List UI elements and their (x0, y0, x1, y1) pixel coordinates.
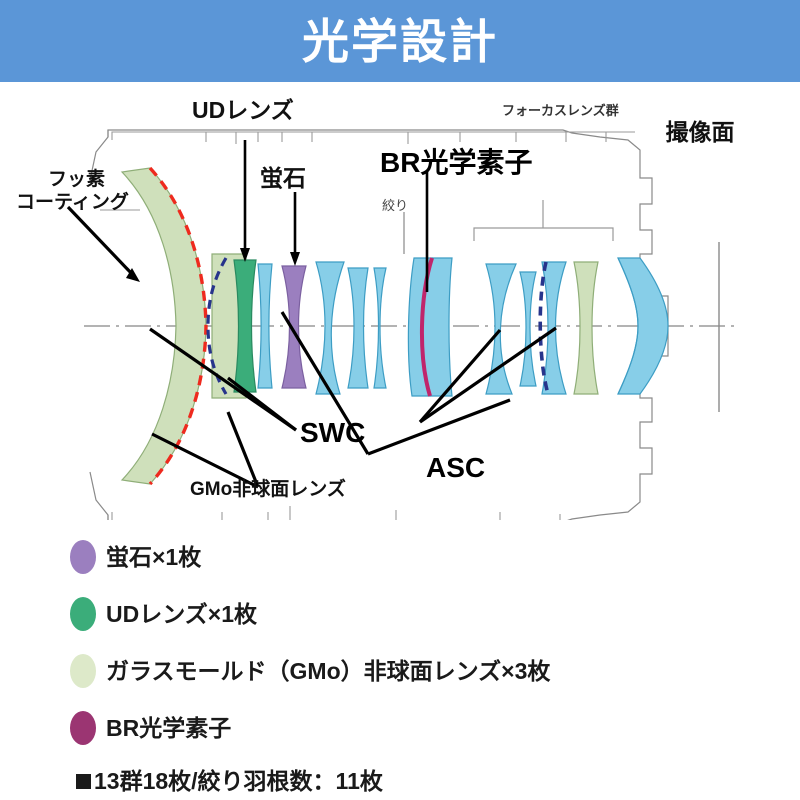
label-fluorite: 蛍石 (260, 165, 306, 191)
label-focus-lens-group: フォーカスレンズ群 (502, 103, 619, 118)
legend-footer: 13群18枚/絞り羽根数：11枚 (76, 770, 383, 793)
legend-label-br-element: BR光学素子 (106, 717, 231, 740)
label-image-plane: 撮像面 (666, 119, 735, 145)
legend-label-gmo-aspherical: ガラスモールド（GMo）非球面レンズ×3枚 (106, 660, 550, 683)
label-aperture: 絞り (382, 198, 408, 213)
page-header: 光学設計 (0, 0, 800, 82)
legend: 蛍石×1枚 UDレンズ×1枚 ガラスモールド（GMo）非球面レンズ×3枚 BR光… (0, 520, 800, 800)
legend-label-ud-lens: UDレンズ×1枚 (106, 603, 257, 626)
page-title: 光学設計 (302, 18, 498, 65)
bottom-group-rail (112, 506, 620, 520)
legend-swatch-fluorite (70, 540, 96, 574)
legend-swatch-br-element (70, 711, 96, 745)
lens-element-5 (348, 268, 368, 388)
optical-design-page: 光学設計 (0, 0, 800, 800)
legend-item-ud-lens: UDレンズ×1枚 (70, 597, 257, 631)
legend-swatch-ud-lens (70, 597, 96, 631)
legend-label-fluorite: 蛍石×1枚 (106, 546, 201, 569)
label-br-optical-element: BR光学素子 (380, 146, 532, 178)
lens-cross-section-diagram: フッ素 コーティング UDレンズ 蛍石 BR光学素子 絞り フォーカスレンズ群 … (0, 82, 800, 520)
lens-element-6 (374, 268, 386, 388)
legend-item-fluorite: 蛍石×1枚 (70, 540, 201, 574)
lens-element-8 (520, 272, 536, 386)
focus-lens-group-bracket (474, 200, 613, 241)
top-group-rail (112, 132, 635, 144)
label-asc: ASC (426, 452, 485, 483)
legend-item-br-element: BR光学素子 (70, 711, 231, 745)
legend-item-gmo-aspherical: ガラスモールド（GMo）非球面レンズ×3枚 (70, 654, 550, 688)
label-gmo-aspherical: GMo非球面レンズ (190, 477, 346, 500)
label-fluorine-coating-line2: コーティング (16, 190, 129, 213)
label-fluorine-coating-line1: フッ素 (48, 167, 105, 190)
lens-element-fluorite (282, 266, 306, 388)
legend-footer-label: 13群18枚/絞り羽根数：11枚 (94, 770, 383, 793)
lens-element-gmo-3 (574, 262, 598, 394)
label-ud-lens: UDレンズ (192, 97, 294, 123)
legend-swatch-gmo-aspherical (70, 654, 96, 688)
square-bullet-icon (76, 774, 91, 789)
label-swc: SWC (300, 417, 365, 448)
